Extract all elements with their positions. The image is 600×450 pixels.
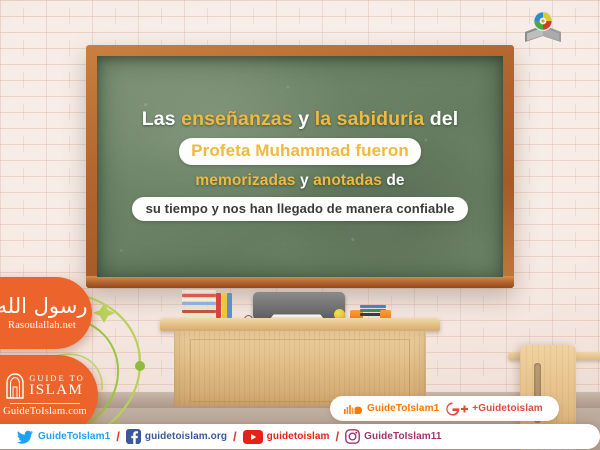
guide-to-islam-badge[interactable]: GUIDE TO ISLAM GuideToIslam.com <box>0 355 98 435</box>
social-item-googleplus[interactable]: +Guidetoislam <box>446 402 543 416</box>
instagram-icon <box>345 429 360 444</box>
youtube-handle: guidetoislam <box>267 431 330 442</box>
twitter-handle: GuideToIslam1 <box>38 431 110 442</box>
mosque-arch-icon <box>5 373 25 399</box>
social-bar-bottom: GuideToIslam1 / guidetoislam.org / guide… <box>0 424 600 449</box>
headline-seg-1a: Las <box>142 108 181 130</box>
headline-seg-1b: enseñanzas <box>181 108 293 130</box>
book <box>182 306 216 309</box>
headline-seg-3b: y <box>296 172 314 189</box>
book <box>182 302 216 305</box>
book <box>360 305 386 308</box>
headline-line-3: memorizadas y anotadas de <box>195 172 404 190</box>
twitter-icon <box>16 430 34 444</box>
youtube-icon <box>243 430 263 444</box>
social-item-youtube[interactable]: guidetoislam <box>243 430 330 444</box>
headline-seg-3c: anotadas <box>313 172 382 189</box>
book <box>182 310 216 313</box>
facebook-handle: guidetoislam.org <box>145 431 227 442</box>
social-item-soundcloud[interactable]: GuideToIslam1 <box>344 403 439 415</box>
headline-seg-1e: del <box>424 108 458 130</box>
book <box>182 290 216 293</box>
googleplus-handle: +Guidetoislam <box>472 403 543 414</box>
desk-panel-inset <box>190 339 410 402</box>
social-item-facebook[interactable]: guidetoislam.org <box>126 429 227 444</box>
book <box>182 294 216 297</box>
desk-front-panel <box>174 331 426 406</box>
globe-on-open-book-icon <box>521 8 565 48</box>
headline-message: Las enseñanzas y la sabiduría del Profet… <box>97 108 503 221</box>
separator: / <box>233 429 237 444</box>
guide-title-bottom: ISLAM <box>29 383 83 398</box>
desk-surface <box>160 318 440 331</box>
guide-divider <box>10 403 80 404</box>
facebook-icon <box>126 429 141 444</box>
social-item-twitter[interactable]: GuideToIslam1 <box>16 430 110 444</box>
headline-line-1: Las enseñanzas y la sabiduría del <box>142 108 459 131</box>
headline-seg-3d: de <box>382 172 405 189</box>
rasoulallah-url: Rasoulallah.net <box>8 320 76 331</box>
headline-seg-1c: y <box>293 108 315 130</box>
arabic-calligraphy: رسول الله <box>0 296 87 317</box>
poster-canvas: Las enseñanzas y la sabiduría del Profet… <box>0 0 600 450</box>
chalkboard-surface: Las enseñanzas y la sabiduría del Profet… <box>97 56 503 277</box>
headline-seg-3a: memorizadas <box>195 172 295 189</box>
book-stack <box>182 290 216 318</box>
social-item-instagram[interactable]: GuideToIslam11 <box>345 429 441 444</box>
social-bar-top: GuideToIslam1 +Guidetoislam <box>330 396 559 421</box>
instagram-handle: GuideToIslam11 <box>364 431 441 442</box>
book <box>227 293 232 318</box>
headline-line-2: Profeta Muhammad fueron <box>179 138 421 165</box>
guide-url: GuideToIslam.com <box>3 406 87 417</box>
guide-wordmark: GUIDE TO ISLAM <box>29 374 85 399</box>
chalkboard: Las enseñanzas y la sabiduría del Profet… <box>86 45 514 288</box>
soundcloud-handle: GuideToIslam1 <box>367 403 439 414</box>
upright-books <box>216 293 232 318</box>
guide-logo-row: GUIDE TO ISLAM <box>5 373 85 399</box>
book <box>216 293 221 318</box>
book <box>182 298 216 301</box>
google-plus-icon <box>446 402 468 416</box>
separator: / <box>336 429 340 444</box>
headline-seg-1d: la sabiduría <box>315 108 425 130</box>
soundcloud-icon <box>344 403 363 415</box>
rasoulallah-badge[interactable]: رسول الله Rasoulallah.net <box>0 277 92 349</box>
headline-pill-prophet: Profeta Muhammad fueron <box>179 138 421 165</box>
headline-line-4: su tiempo y nos han llegado de manera co… <box>132 197 469 221</box>
guide-title-top: GUIDE TO <box>29 374 85 383</box>
separator: / <box>116 429 120 444</box>
book <box>182 314 216 317</box>
teacher-desk <box>168 318 432 406</box>
globe-book-logo <box>521 8 565 48</box>
headline-pill-reliable: su tiempo y nos han llegado de manera co… <box>132 197 469 221</box>
